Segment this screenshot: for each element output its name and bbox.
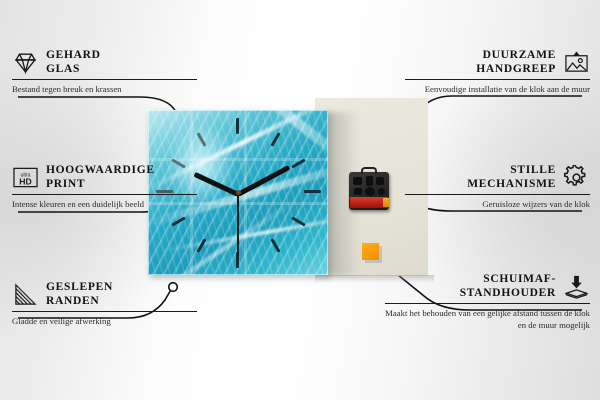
- feature-divider: [12, 311, 197, 312]
- feature-title-line1: SCHUIMAF-: [460, 272, 556, 286]
- feature-divider: [405, 194, 590, 195]
- beveled-edge-icon: [12, 281, 39, 308]
- feature-subtitle: Bestand tegen breuk en krassen: [12, 84, 197, 96]
- feature-title-line1: GESLEPEN: [46, 280, 113, 294]
- clock-mechanism: [349, 172, 389, 210]
- feature-title-line1: GEHARD: [46, 48, 101, 62]
- diamond-icon: [12, 49, 39, 76]
- clock-second-hand: [237, 194, 239, 256]
- feature-subtitle: Maakt het behouden van een gelijke afsta…: [385, 308, 590, 331]
- feature-title-line2: MECHANISME: [467, 177, 556, 191]
- feature-title-line1: DUURZAME: [476, 48, 556, 62]
- feature-subtitle: Gladde en veilige afwerking: [12, 316, 197, 328]
- picture-frame-icon: [563, 49, 590, 76]
- feature-divider: [405, 79, 590, 80]
- feature-ground-edges: GESLEPEN RANDEN Gladde en veilige afwerk…: [12, 280, 197, 328]
- foam-spacer: [362, 243, 379, 260]
- feature-title-line2: RANDEN: [46, 294, 113, 308]
- clock-center-pin: [236, 190, 241, 195]
- feature-subtitle: Geruisloze wijzers van de klok: [405, 199, 590, 211]
- feature-high-quality-print: ultra HD HOOGWAARDIGE PRINT Intense kleu…: [12, 163, 197, 211]
- feature-title-line1: HOOGWAARDIGE: [46, 163, 155, 177]
- feature-subtitle: Eenvoudige installatie van de klok aan d…: [405, 84, 590, 96]
- feature-title-line2: PRINT: [46, 177, 155, 191]
- feature-durable-hanger: DUURZAME HANDGREEP Eenvoudige installati…: [405, 48, 590, 96]
- mechanism-hanger-tab: [361, 167, 377, 174]
- svg-text:HD: HD: [19, 176, 31, 186]
- feature-divider: [385, 303, 590, 304]
- feature-title-line2: STANDHOUDER: [460, 286, 556, 300]
- feature-title-line1: STILLE: [467, 163, 556, 177]
- aa-battery: [350, 197, 388, 208]
- gear-icon: [563, 164, 590, 191]
- stamp-down-icon: [563, 273, 590, 300]
- feature-foam-spacer: SCHUIMAF- STANDHOUDER Maakt het behouden…: [385, 272, 590, 332]
- feature-silent-mechanism: STILLE MECHANISME Geruisloze wijzers van…: [405, 163, 590, 211]
- feature-tempered-glass: GEHARD GLAS Bestand tegen breuk en krass…: [12, 48, 197, 96]
- ultra-hd-icon: ultra HD: [12, 164, 39, 191]
- feature-divider: [12, 194, 197, 195]
- product-infographic: GEHARD GLAS Bestand tegen breuk en krass…: [0, 0, 600, 400]
- feature-title-line2: HANDGREEP: [476, 62, 556, 76]
- feature-divider: [12, 79, 197, 80]
- feature-subtitle: Intense kleuren en een duidelijk beeld: [12, 199, 197, 211]
- feature-title-line2: GLAS: [46, 62, 101, 76]
